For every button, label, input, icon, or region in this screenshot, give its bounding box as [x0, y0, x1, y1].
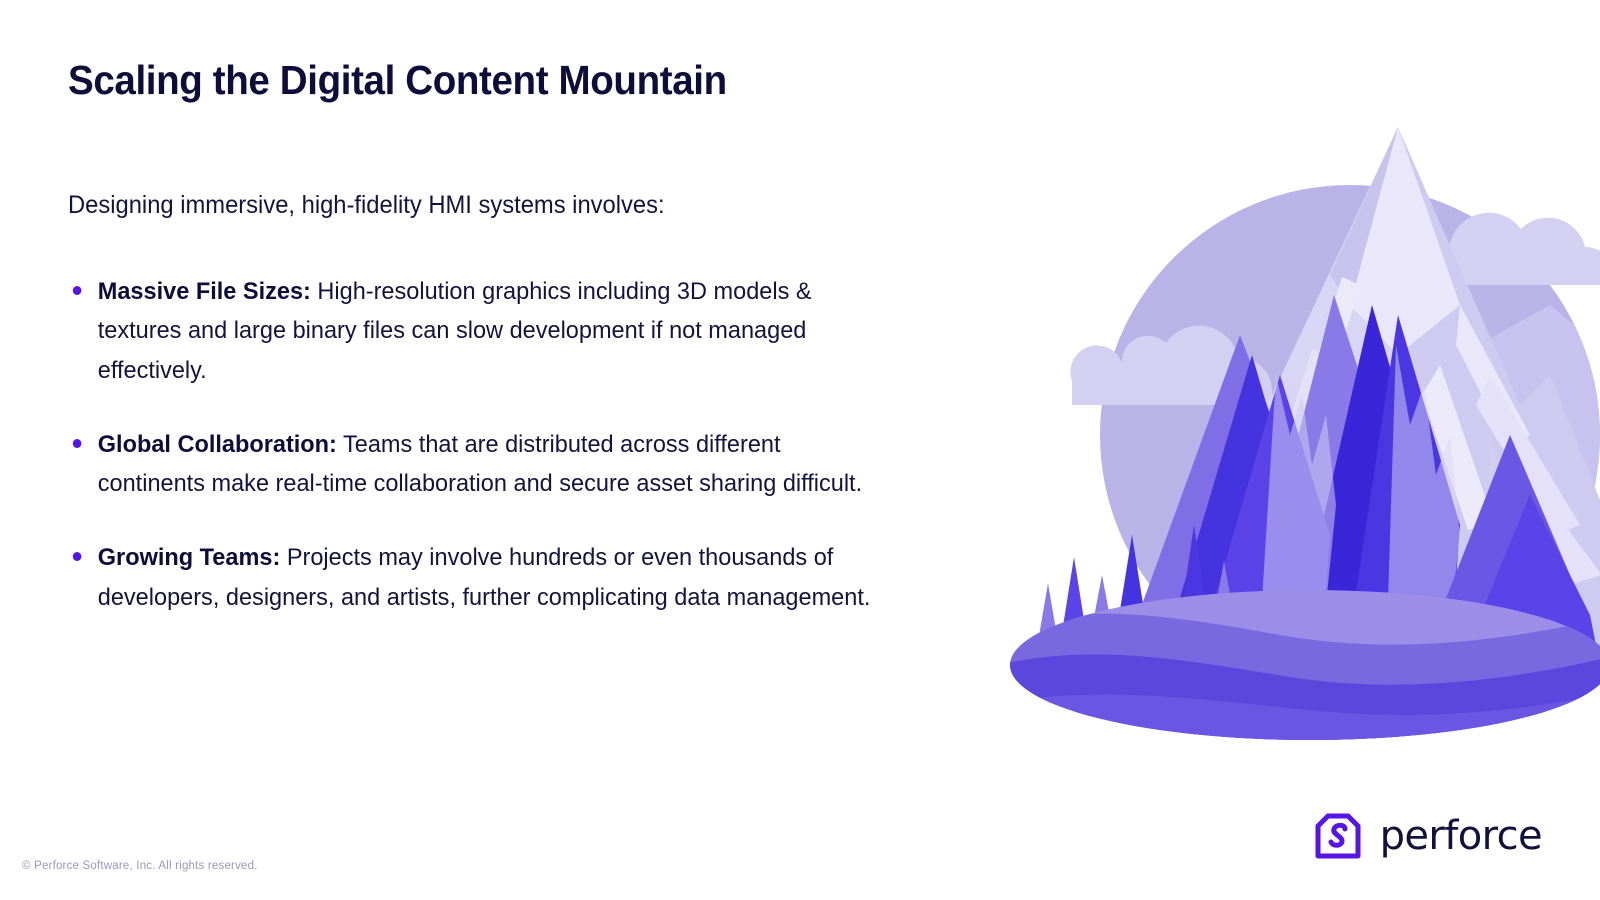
- list-item: Growing Teams: Projects may involve hund…: [68, 538, 894, 617]
- perforce-logo: perforce: [1312, 810, 1542, 862]
- list-item: Global Collaboration: Teams that are dis…: [68, 425, 894, 504]
- mountain-illustration-svg: [990, 105, 1600, 745]
- intro-paragraph: Designing immersive, high-fidelity HMI s…: [68, 189, 885, 222]
- slide-canvas: Scaling the Digital Content Mountain Des…: [0, 0, 1600, 900]
- bullet-dot-icon: [73, 286, 82, 295]
- list-item: Massive File Sizes: High-resolution grap…: [68, 272, 894, 391]
- bullet-dot-icon: [73, 552, 82, 561]
- perforce-wordmark: perforce: [1380, 816, 1542, 856]
- text-content-column: Scaling the Digital Content Mountain Des…: [68, 56, 928, 618]
- mountain-illustration: [990, 105, 1600, 745]
- bullet-dot-icon: [73, 439, 82, 448]
- copyright-text: © Perforce Software, Inc. All rights res…: [22, 860, 258, 872]
- page-title: Scaling the Digital Content Mountain: [68, 56, 876, 105]
- bullet-lead-label: Massive File Sizes:: [98, 278, 311, 305]
- bullet-lead-label: Global Collaboration:: [98, 431, 337, 458]
- bullet-lead-label: Growing Teams:: [98, 544, 281, 571]
- bullet-list: Massive File Sizes: High-resolution grap…: [68, 272, 928, 618]
- perforce-mark-icon: [1312, 810, 1364, 862]
